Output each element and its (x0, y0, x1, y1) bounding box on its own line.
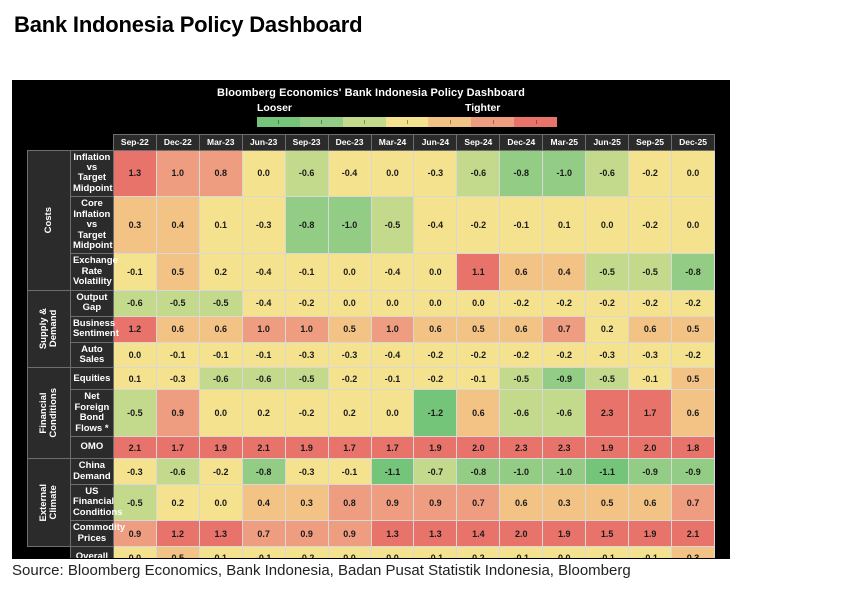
heatmap-cell: -0.6 (199, 368, 242, 390)
heatmap-cell: -1.0 (543, 459, 586, 485)
panel-title: Bloomberg Economics' Bank Indonesia Poli… (12, 80, 730, 99)
heatmap-cell: 0.2 (586, 316, 629, 342)
heatmap-cell: 2.1 (242, 437, 285, 459)
column-header: Sep-23 (285, 134, 328, 150)
heatmap-cell: 0.5 (156, 254, 199, 290)
table-row: Financial ConditionsEquities0.1-0.3-0.6-… (28, 368, 715, 390)
heatmap-cell: 0.6 (629, 485, 672, 521)
row-label: OMO (70, 437, 113, 459)
heatmap-cell: 1.2 (156, 521, 199, 547)
heatmap-cell: 0.3 (672, 547, 715, 558)
heatmap-cell: 0.0 (328, 254, 371, 290)
heatmap-cell: -0.2 (586, 290, 629, 316)
heatmap-cell: -0.9 (672, 459, 715, 485)
heatmap-cell: 1.3 (113, 150, 156, 197)
heatmap-cell: 1.2 (113, 316, 156, 342)
heatmap-cell: 0.0 (113, 547, 156, 558)
table-row: Commodity Prices0.91.21.30.70.90.91.31.3… (28, 521, 715, 547)
heatmap-cell: 0.9 (414, 485, 457, 521)
heatmap-cell: 2.0 (500, 521, 543, 547)
column-header: Jun-23 (242, 134, 285, 150)
heatmap-cell: 0.0 (672, 150, 715, 197)
legend-band-1 (300, 117, 343, 127)
heatmap-cell: 1.0 (371, 316, 414, 342)
heatmap-cell: 1.9 (414, 437, 457, 459)
heatmap-cell: 0.5 (156, 547, 199, 558)
table-row: Core Inflation vs Target Midpoint0.30.40… (28, 197, 715, 254)
heatmap-cell: 0.6 (500, 316, 543, 342)
table-row: OMO2.11.71.92.11.91.71.71.92.02.32.31.92… (28, 437, 715, 459)
table-row: CostsInflation vs Target Midpoint1.31.00… (28, 150, 715, 197)
heatmap-cell: 0.5 (328, 316, 371, 342)
heatmap-cell: -0.2 (543, 290, 586, 316)
heatmap-cell: -0.5 (586, 254, 629, 290)
column-header: Mar-23 (199, 134, 242, 150)
heatmap-cell: 0.0 (328, 290, 371, 316)
legend: Looser Tighter (12, 102, 730, 132)
heatmap-cell: -0.6 (242, 368, 285, 390)
heatmap-cell: 0.6 (156, 316, 199, 342)
heatmap-cell: 1.0 (156, 150, 199, 197)
column-header: Mar-24 (371, 134, 414, 150)
heatmap-cell: -0.1 (629, 368, 672, 390)
heatmap-cell: 0.1 (199, 547, 242, 558)
column-header: Sep-25 (629, 134, 672, 150)
heatmap-cell: -0.3 (285, 459, 328, 485)
heatmap-cell: 0.4 (242, 485, 285, 521)
heatmap-cell: -0.2 (414, 368, 457, 390)
heatmap-cell: 0.1 (113, 368, 156, 390)
heatmap-cell: -0.7 (414, 459, 457, 485)
heatmap-cell: -0.2 (457, 342, 500, 368)
legend-gradient-bar (257, 117, 557, 127)
heatmap-cell: -0.1 (285, 254, 328, 290)
row-label: Commodity Prices (70, 521, 113, 547)
heatmap-cell: -0.2 (328, 368, 371, 390)
heatmap-cell: -0.4 (328, 150, 371, 197)
heatmap-cell: 1.9 (543, 521, 586, 547)
heatmap-cell: -0.6 (156, 459, 199, 485)
heatmap-cell: 1.9 (629, 521, 672, 547)
row-group-supply-demand: Supply & Demand (28, 290, 71, 368)
heatmap-cell: -1.0 (328, 197, 371, 254)
heatmap-cell: -0.3 (113, 459, 156, 485)
row-group-blank (28, 547, 71, 558)
heatmap-cell: 0.0 (672, 197, 715, 254)
heatmap-cell: 0.2 (156, 485, 199, 521)
heatmap-cell: -0.4 (414, 197, 457, 254)
heatmap-cell: 0.0 (371, 390, 414, 437)
heatmap-cell: 1.4 (457, 521, 500, 547)
row-group-label: Supply & Demand (39, 308, 59, 349)
heatmap-cell: -0.5 (371, 197, 414, 254)
heatmap-cell: -0.1 (500, 197, 543, 254)
row-label: China Demand (70, 459, 113, 485)
heatmap-cell: 0.0 (328, 547, 371, 558)
heatmap-cell: 0.0 (371, 150, 414, 197)
heatmap-cell: -0.3 (586, 342, 629, 368)
heatmap-cell: 0.1 (199, 197, 242, 254)
row-group-label: Costs (44, 207, 54, 233)
row-label: Business Sentiment (70, 316, 113, 342)
heatmap-cell: 1.9 (586, 437, 629, 459)
row-label: Auto Sales (70, 342, 113, 368)
heatmap-cell: 0.5 (457, 316, 500, 342)
heatmap-cell: 2.3 (500, 437, 543, 459)
heatmap-cell: 0.0 (586, 197, 629, 254)
corner-cell (28, 134, 71, 150)
heatmap-cell: -0.5 (199, 290, 242, 316)
heatmap-cell: -0.2 (457, 197, 500, 254)
heatmap-cell: 0.5 (672, 368, 715, 390)
table-row: Business Sentiment1.20.60.61.01.00.51.00… (28, 316, 715, 342)
heatmap-cell: -0.2 (672, 290, 715, 316)
heatmap-cell: -0.4 (371, 342, 414, 368)
column-header: Mar-25 (543, 134, 586, 150)
heatmap-cell: 0.6 (414, 316, 457, 342)
heatmap-cell: -0.5 (113, 390, 156, 437)
column-header: Sep-24 (457, 134, 500, 150)
heatmap-cell: -0.4 (242, 290, 285, 316)
row-label: US Financial Conditions (70, 485, 113, 521)
row-label: Equities (70, 368, 113, 390)
heatmap-cell: 0.5 (586, 485, 629, 521)
legend-band-5 (471, 117, 514, 127)
heatmap-cell: 0.0 (371, 290, 414, 316)
corner-cell-2 (70, 134, 113, 150)
heatmap-cell: -0.1 (586, 547, 629, 558)
heatmap-cell: -0.2 (500, 342, 543, 368)
heatmap-cell: 0.2 (328, 390, 371, 437)
heatmap-cell: 0.3 (543, 485, 586, 521)
heatmap-cell: -0.5 (586, 368, 629, 390)
legend-labels: Looser Tighter (257, 102, 557, 116)
heatmap-cell: 1.9 (199, 437, 242, 459)
row-label: Exchange Rate Volatility (70, 254, 113, 290)
heatmap-cell: 2.0 (629, 437, 672, 459)
heatmap-cell: -0.2 (543, 342, 586, 368)
legend-band-2 (343, 117, 386, 127)
heatmap-cell: -0.3 (414, 150, 457, 197)
heatmap-cell: 0.4 (156, 197, 199, 254)
heatmap-cell: 0.7 (242, 521, 285, 547)
heatmap-cell: 1.3 (371, 521, 414, 547)
row-label: Output Gap (70, 290, 113, 316)
column-header: Dec-24 (500, 134, 543, 150)
heatmap-cell: -0.5 (156, 290, 199, 316)
heatmap-cell: 0.2 (242, 390, 285, 437)
heatmap-cell: -0.6 (543, 390, 586, 437)
source-line: Source: Bloomberg Economics, Bank Indone… (12, 562, 631, 579)
heatmap-cell: 1.7 (156, 437, 199, 459)
row-group-financial-conditions: Financial Conditions (28, 368, 71, 459)
legend-band-6 (514, 117, 557, 127)
heatmap-cell: 0.8 (328, 485, 371, 521)
heatmap-cell: 0.0 (414, 290, 457, 316)
heatmap-cell: 1.5 (586, 521, 629, 547)
column-header: Dec-22 (156, 134, 199, 150)
heatmap-cell: 0.0 (371, 547, 414, 558)
heatmap-cell: 1.9 (285, 437, 328, 459)
heatmap-cell: -0.1 (457, 368, 500, 390)
heatmap-cell: -0.1 (242, 547, 285, 558)
heatmap-cell: 0.0 (543, 547, 586, 558)
heatmap-cell: -0.2 (629, 290, 672, 316)
heatmap-cell: -1.0 (500, 459, 543, 485)
heatmap-cell: 0.0 (113, 342, 156, 368)
heatmap-cell: 0.9 (285, 521, 328, 547)
heatmap-cell: 0.6 (629, 316, 672, 342)
column-header: Dec-25 (672, 134, 715, 150)
heatmap-cell: -0.1 (629, 547, 672, 558)
heatmap-cell: 0.3 (113, 197, 156, 254)
column-header-row: Sep-22Dec-22Mar-23Jun-23Sep-23Dec-23Mar-… (28, 134, 715, 150)
heatmap-cell: 1.1 (457, 254, 500, 290)
heatmap-cell: 0.3 (285, 485, 328, 521)
heatmap-cell: -0.2 (285, 547, 328, 558)
heatmap-cell: 0.1 (543, 197, 586, 254)
source-divider (12, 558, 730, 559)
heatmap-cell: -0.8 (457, 459, 500, 485)
heatmap-cell: 0.0 (414, 254, 457, 290)
heatmap-cell: -0.2 (414, 342, 457, 368)
heatmap-cell: 0.2 (457, 547, 500, 558)
heatmap-cell: 0.6 (672, 390, 715, 437)
heatmap-cell: -1.2 (414, 390, 457, 437)
heatmap-cell: -0.8 (285, 197, 328, 254)
heatmap-cell: 1.7 (371, 437, 414, 459)
heatmap-cell: -0.5 (629, 254, 672, 290)
heatmap-cell: -0.8 (672, 254, 715, 290)
heatmap-cell: -1.1 (586, 459, 629, 485)
heatmap-cell: -0.2 (672, 342, 715, 368)
heatmap-cell: -0.3 (242, 197, 285, 254)
heatmap-cell: -0.2 (285, 390, 328, 437)
heatmap-cell: 2.3 (543, 437, 586, 459)
row-group-costs: Costs (28, 150, 71, 290)
heatmap-cell: 0.5 (672, 316, 715, 342)
heatmap-cell: -0.6 (113, 290, 156, 316)
heatmap-cell: 1.0 (285, 316, 328, 342)
heatmap-cell: 1.3 (414, 521, 457, 547)
heatmap-cell: 2.0 (457, 437, 500, 459)
heatmap-cell: -0.4 (242, 254, 285, 290)
heatmap-cell: 1.0 (242, 316, 285, 342)
heatmap-cell: 0.0 (199, 390, 242, 437)
heatmap-cell: 1.3 (199, 521, 242, 547)
heatmap-cell: 0.2 (199, 254, 242, 290)
row-group-label: Financial Conditions (39, 388, 59, 438)
heatmap-cell: 0.7 (543, 316, 586, 342)
heatmap-cell: -0.6 (285, 150, 328, 197)
heatmap-cell: 0.9 (328, 521, 371, 547)
heatmap-cell: -0.1 (371, 368, 414, 390)
row-group-label: External Climate (39, 484, 59, 522)
heatmap-cell: 1.8 (672, 437, 715, 459)
heatmap-cell: -0.6 (500, 390, 543, 437)
heatmap-cell: -0.5 (500, 368, 543, 390)
heatmap-cell: -0.2 (629, 197, 672, 254)
heatmap-cell: 2.3 (586, 390, 629, 437)
heatmap-cell: 0.7 (672, 485, 715, 521)
legend-label-looser: Looser (257, 102, 292, 114)
heatmap-cell: -1.0 (543, 150, 586, 197)
heatmap-cell: 0.6 (500, 254, 543, 290)
heatmap-cell: -0.3 (629, 342, 672, 368)
policy-heatmap-table: Sep-22Dec-22Mar-23Jun-23Sep-23Dec-23Mar-… (27, 134, 715, 558)
heatmap-cell: 0.7 (457, 485, 500, 521)
heatmap-cell: 0.0 (199, 485, 242, 521)
column-header: Dec-23 (328, 134, 371, 150)
row-label: Core Inflation vs Target Midpoint (70, 197, 113, 254)
column-header: Jun-25 (586, 134, 629, 150)
heatmap-cell: 0.6 (457, 390, 500, 437)
table-row: Overall0.00.50.1-0.1-0.20.00.0-0.10.2-0.… (28, 547, 715, 558)
heatmap-cell: -1.1 (371, 459, 414, 485)
table-row: Net Foreign Bond Flows *-0.50.90.00.2-0.… (28, 390, 715, 437)
heatmap-cell: -0.3 (328, 342, 371, 368)
dashboard-panel: Bloomberg Economics' Bank Indonesia Poli… (12, 80, 730, 558)
table-row: Exchange Rate Volatility-0.10.50.2-0.4-0… (28, 254, 715, 290)
heatmap-cell: -0.2 (629, 150, 672, 197)
heatmap-cell: 0.0 (242, 150, 285, 197)
table-row: Supply & DemandOutput Gap-0.6-0.5-0.5-0.… (28, 290, 715, 316)
heatmap-cell: -0.8 (500, 150, 543, 197)
page-title: Bank Indonesia Policy Dashboard (0, 0, 842, 38)
heatmap-cell: -0.1 (113, 254, 156, 290)
legend-band-3 (386, 117, 429, 127)
heatmap-cell: 1.7 (328, 437, 371, 459)
heatmap-cell: 0.9 (371, 485, 414, 521)
heatmap-cell: 0.6 (500, 485, 543, 521)
table-row: External ClimateChina Demand-0.3-0.6-0.2… (28, 459, 715, 485)
heatmap-cell: -0.9 (543, 368, 586, 390)
heatmap-cell: -0.6 (586, 150, 629, 197)
heatmap-cell: 0.9 (156, 390, 199, 437)
table-row: Auto Sales0.0-0.1-0.1-0.1-0.3-0.3-0.4-0.… (28, 342, 715, 368)
heatmap-cell: -0.9 (629, 459, 672, 485)
heatmap-cell: -0.2 (199, 459, 242, 485)
row-group-external-climate: External Climate (28, 459, 71, 547)
heatmap-cell: 1.7 (629, 390, 672, 437)
heatmap-cell: 0.0 (457, 290, 500, 316)
heatmap-cell: -0.8 (242, 459, 285, 485)
legend-band-4 (428, 117, 471, 127)
legend-band-0 (257, 117, 300, 127)
heatmap-cell: -0.6 (457, 150, 500, 197)
heatmap-cell: 2.1 (672, 521, 715, 547)
row-label: Inflation vs Target Midpoint (70, 150, 113, 197)
table-row: US Financial Conditions-0.50.20.00.40.30… (28, 485, 715, 521)
heatmap-cell: -0.3 (156, 368, 199, 390)
heatmap-cell: -0.1 (156, 342, 199, 368)
heatmap-cell: 0.4 (543, 254, 586, 290)
row-label: Overall (70, 547, 113, 558)
column-header: Jun-24 (414, 134, 457, 150)
heatmap-cell: -0.4 (371, 254, 414, 290)
heatmap-cell: -0.2 (285, 290, 328, 316)
heatmap-cell: 0.6 (199, 316, 242, 342)
heatmap-cell: -0.1 (242, 342, 285, 368)
heatmap-cell: 0.8 (199, 150, 242, 197)
heatmap-cell: -0.2 (500, 290, 543, 316)
heatmap-cell: -0.1 (500, 547, 543, 558)
heatmap-cell: -0.1 (414, 547, 457, 558)
heatmap-cell: -0.1 (328, 459, 371, 485)
heatmap-cell: -0.1 (199, 342, 242, 368)
heatmap-cell: -0.3 (285, 342, 328, 368)
heatmap-cell: -0.5 (285, 368, 328, 390)
heatmap-cell: 2.1 (113, 437, 156, 459)
column-header: Sep-22 (113, 134, 156, 150)
row-label: Net Foreign Bond Flows * (70, 390, 113, 437)
legend-label-tighter: Tighter (465, 102, 500, 114)
